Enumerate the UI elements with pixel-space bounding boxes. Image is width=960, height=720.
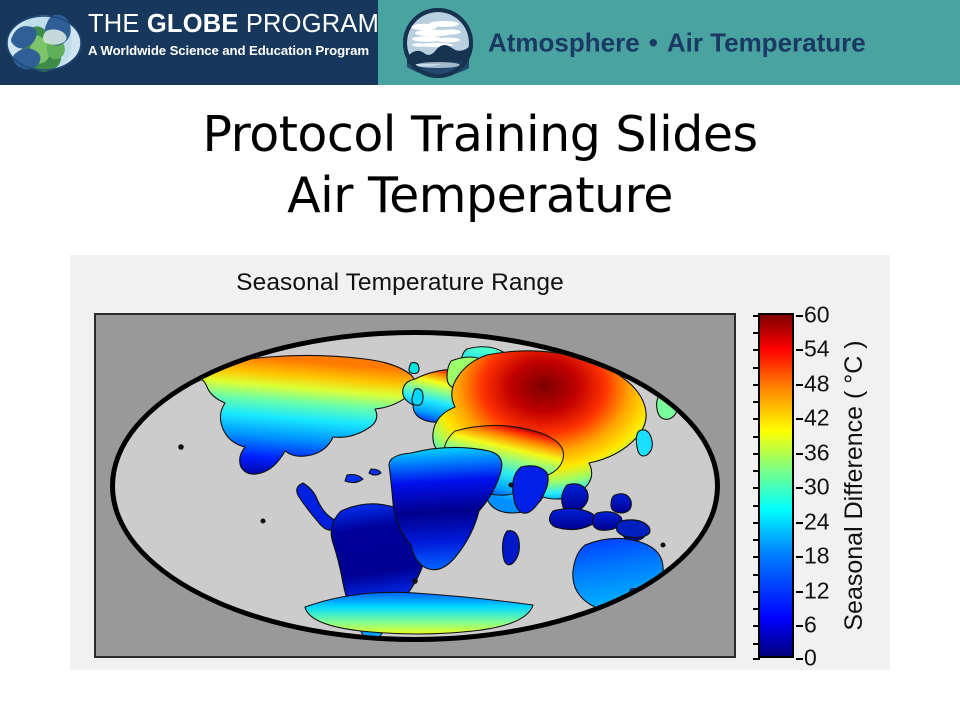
figure-panel: Seasonal Temperature Range [70, 255, 890, 670]
colorbar-tick [753, 418, 760, 420]
colorbar-tick [796, 658, 803, 660]
slide-title-line-1: Protocol Training Slides [0, 104, 960, 165]
colorbar-tick-label: 6 [804, 614, 817, 637]
colorbar-tick [753, 658, 760, 660]
colorbar-tick [753, 349, 760, 351]
sphere-protocol-panel: Atmosphere•Air Temperature [378, 0, 960, 85]
colorbar-tick [796, 349, 803, 351]
colorbar-tick-label: 54 [804, 338, 830, 361]
colorbar-tick [753, 625, 760, 627]
colorbar-tick [796, 487, 803, 489]
colorbar-tick [753, 608, 760, 610]
colorbar-tick [796, 522, 803, 524]
colorbar-tick [753, 505, 760, 507]
colorbar-tick [796, 625, 803, 627]
colorbar-tick [753, 591, 760, 593]
sphere-separator-dot: • [640, 27, 667, 57]
colorbar-tick [753, 539, 760, 541]
colorbar-tick [796, 591, 803, 593]
globe-hands-logo-icon [6, 9, 82, 77]
globe-brand-text: THE GLOBE PROGRAM A Worldwide Science an… [88, 11, 373, 58]
colorbar-tick [753, 436, 760, 438]
colorbar-tick-label: 36 [804, 442, 830, 465]
colorbar-tick [753, 367, 760, 369]
slide-title-line-2: Air Temperature [0, 165, 960, 226]
colorbar-tick [753, 487, 760, 489]
colorbar-tick [753, 401, 760, 403]
colorbar-tick [796, 384, 803, 386]
colorbar-tick [753, 522, 760, 524]
slide-canvas: THE GLOBE PROGRAM A Worldwide Science an… [0, 0, 960, 720]
colorbar-tick-label: 24 [804, 511, 830, 534]
protocol-name: Air Temperature [667, 27, 866, 57]
slide-header-banner: THE GLOBE PROGRAM A Worldwide Science an… [0, 0, 960, 85]
colorbar-tick [796, 453, 803, 455]
colorbar-tick [796, 556, 803, 558]
colorbar-tick [753, 453, 760, 455]
colorbar-legend: 60 54 48 42 36 30 24 18 12 6 0 Seasonal … [758, 313, 886, 658]
sphere-name: Atmosphere [488, 27, 640, 57]
colorbar-tick-label: 30 [804, 476, 830, 499]
globe-program-title: THE GLOBE PROGRAM [88, 11, 373, 39]
page-title: Protocol Training Slides Air Temperature [0, 104, 960, 227]
colorbar-tick-label: 0 [804, 647, 817, 670]
globe-title-prefix: THE [88, 10, 147, 38]
colorbar-tick [796, 418, 803, 420]
colorbar-tick [753, 332, 760, 334]
colorbar-tick [753, 384, 760, 386]
colorbar-tick [753, 470, 760, 472]
colorbar-tick-label: 12 [804, 580, 830, 603]
world-map-axes [94, 313, 736, 658]
globe-title-suffix: PROGRAM [239, 10, 379, 38]
colorbar-tick-label: 18 [804, 545, 830, 568]
colorbar-tick-label: 60 [804, 304, 830, 327]
colorbar-tick [753, 574, 760, 576]
colorbar-tick [796, 315, 803, 317]
colorbar-tick-label: 42 [804, 407, 830, 430]
colorbar-tick [753, 556, 760, 558]
globe-brand-panel: THE GLOBE PROGRAM A Worldwide Science an… [0, 0, 378, 85]
colorbar-gradient [758, 313, 794, 658]
mollweide-globe-outline [110, 330, 720, 642]
chart-title: Seasonal Temperature Range [70, 269, 730, 297]
sphere-protocol-label: Atmosphere•Air Temperature [488, 27, 866, 58]
colorbar-axis-label: Seasonal Difference ( °C ) [836, 313, 872, 658]
globe-title-bold: GLOBE [147, 10, 239, 38]
colorbar-tick-label: 48 [804, 373, 830, 396]
globe-program-subtitle: A Worldwide Science and Education Progra… [88, 43, 373, 58]
colorbar-tick [753, 315, 760, 317]
seasonal-temperature-range-map [115, 335, 715, 637]
atmosphere-sky-mountain-icon [400, 5, 476, 81]
colorbar-tick [753, 643, 760, 645]
